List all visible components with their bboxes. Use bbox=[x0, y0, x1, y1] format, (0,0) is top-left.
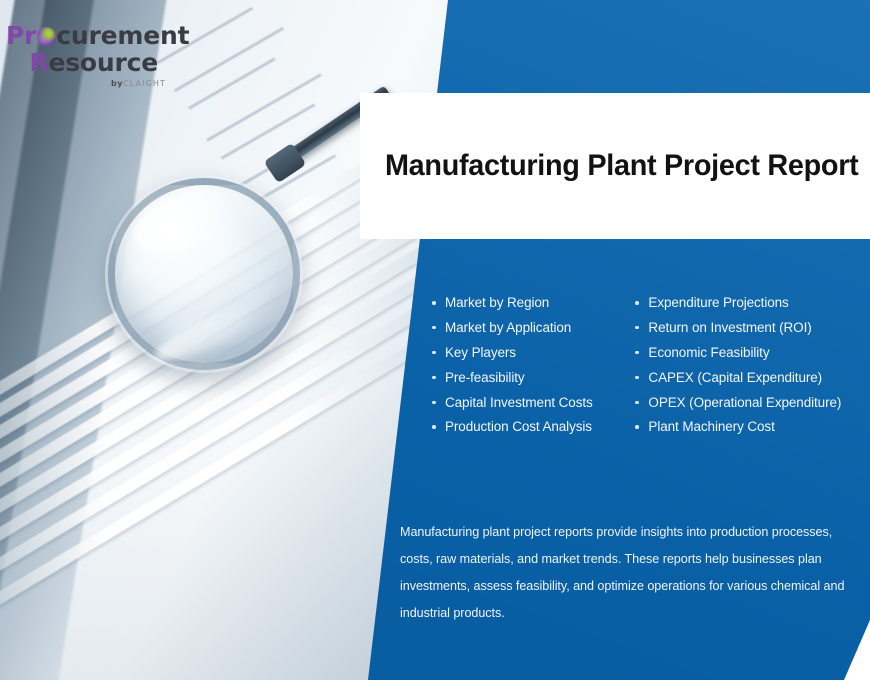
bullet-column-left: Market by Region Market by Application K… bbox=[430, 296, 621, 445]
list-item[interactable]: Plant Machinery Cost bbox=[633, 420, 860, 434]
logo-resource-rest: esource bbox=[48, 48, 158, 77]
feature-bullet-lists: Market by Region Market by Application K… bbox=[430, 296, 860, 445]
list-item[interactable]: OPEX (Operational Expenditure) bbox=[633, 396, 860, 410]
list-item[interactable]: Market by Region bbox=[430, 296, 621, 310]
page-title: Manufacturing Plant Project Report bbox=[360, 149, 858, 183]
logo-circle-mark bbox=[37, 27, 56, 46]
logo-suffix: curement bbox=[56, 21, 189, 50]
list-item[interactable]: Pre-feasibility bbox=[430, 371, 621, 385]
logo-line-two: Resource bbox=[6, 49, 186, 76]
list-item[interactable]: Market by Application bbox=[430, 321, 621, 335]
logo-cap-r: R bbox=[29, 48, 48, 77]
logo-prefix: Pr bbox=[6, 21, 36, 50]
bullet-column-right: Expenditure Projections Return on Invest… bbox=[633, 296, 860, 445]
tagline-by: by bbox=[111, 79, 123, 88]
tagline-brand: CLAIGHT bbox=[123, 79, 166, 88]
logo-line-one: Prcurement bbox=[6, 22, 186, 49]
list-item[interactable]: CAPEX (Capital Expenditure) bbox=[633, 371, 860, 385]
logo-tagline: byCLAIGHT bbox=[6, 79, 186, 88]
list-item[interactable]: Capital Investment Costs bbox=[430, 396, 621, 410]
title-banner: Manufacturing Plant Project Report bbox=[360, 93, 870, 239]
list-item[interactable]: Expenditure Projections bbox=[633, 296, 860, 310]
printed-text-line bbox=[188, 57, 276, 110]
list-item[interactable]: Key Players bbox=[430, 346, 621, 360]
procurement-resource-logo[interactable]: Prcurement Resource byCLAIGHT bbox=[6, 22, 186, 88]
report-banner: Prcurement Resource byCLAIGHT Manufactur… bbox=[0, 0, 870, 680]
list-item[interactable]: Production Cost Analysis bbox=[430, 420, 621, 434]
list-item[interactable]: Return on Investment (ROI) bbox=[633, 321, 860, 335]
list-item[interactable]: Economic Feasibility bbox=[633, 346, 860, 360]
description-paragraph: Manufacturing plant project reports prov… bbox=[400, 519, 855, 627]
